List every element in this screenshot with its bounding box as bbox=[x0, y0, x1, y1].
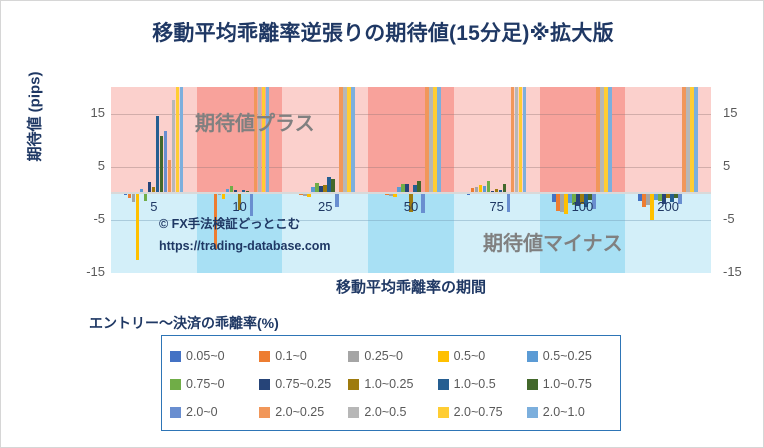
x-tick-label: 5 bbox=[111, 199, 197, 214]
legend-swatch-icon bbox=[259, 379, 270, 390]
legend-item[interactable]: 2.0~0.25 bbox=[259, 405, 348, 419]
legend-item-label: 0.75~0 bbox=[186, 377, 225, 391]
legend-swatch-icon bbox=[438, 351, 449, 362]
legend-item-label: 1.0~0.5 bbox=[454, 377, 496, 391]
x-tick-label: 10 bbox=[197, 199, 283, 214]
legend-item[interactable]: 2.0~0.5 bbox=[348, 405, 437, 419]
legend-item[interactable]: 0.75~0.25 bbox=[259, 377, 348, 391]
x-tick-label: 25 bbox=[282, 199, 368, 214]
x-tick-label: 50 bbox=[368, 199, 454, 214]
legend-item[interactable]: 0.1~0 bbox=[259, 349, 348, 363]
legend-item[interactable]: 0.05~0 bbox=[170, 349, 259, 363]
legend-swatch-icon bbox=[170, 407, 181, 418]
legend-item-label: 1.0~0.75 bbox=[543, 377, 592, 391]
zero-axis-line bbox=[111, 192, 711, 194]
plot-region: 期待値プラス 期待値マイナス © FX手法検証どっとこむ https://tra… bbox=[111, 87, 711, 273]
legend-item[interactable]: 1.0~0.25 bbox=[348, 377, 437, 391]
legend-item-label: 0.1~0 bbox=[275, 349, 307, 363]
legend-box: 0.05~00.1~00.25~00.5~00.5~0.250.75~00.75… bbox=[161, 335, 621, 431]
legend-item-label: 0.5~0.25 bbox=[543, 349, 592, 363]
legend-swatch-icon bbox=[527, 407, 538, 418]
legend-swatch-icon bbox=[259, 351, 270, 362]
y-tick-label-left: 5 bbox=[1, 158, 105, 173]
legend-item[interactable]: 0.25~0 bbox=[348, 349, 437, 363]
positive-zone-label: 期待値プラス bbox=[195, 107, 315, 136]
legend-swatch-icon bbox=[170, 351, 181, 362]
legend-item[interactable]: 0.75~0 bbox=[170, 377, 259, 391]
legend-swatch-icon bbox=[170, 379, 181, 390]
bar bbox=[180, 87, 184, 193]
watermark-line-2: https://trading-database.com bbox=[159, 235, 331, 257]
legend-swatch-icon bbox=[527, 379, 538, 390]
bar bbox=[266, 87, 270, 193]
legend-swatch-icon bbox=[259, 407, 270, 418]
legend-swatch-icon bbox=[348, 379, 359, 390]
legend-swatch-icon bbox=[527, 351, 538, 362]
negative-zone-label: 期待値マイナス bbox=[483, 227, 623, 256]
legend-title: エントリー〜決済の乖離率(%) bbox=[89, 313, 279, 333]
legend-item-label: 0.05~0 bbox=[186, 349, 225, 363]
x-tick-label: 100 bbox=[540, 199, 626, 214]
x-axis-title: 移動平均乖離率の期間 bbox=[111, 276, 711, 297]
bar-group bbox=[625, 87, 711, 273]
watermark: © FX手法検証どっとこむ https://trading-database.c… bbox=[159, 213, 331, 257]
bar bbox=[523, 87, 527, 193]
legend-grid: 0.05~00.1~00.25~00.5~00.5~0.250.75~00.75… bbox=[162, 336, 620, 430]
y-tick-label-right: -5 bbox=[723, 211, 735, 226]
legend-item-label: 2.0~0.25 bbox=[275, 405, 324, 419]
x-tick-label: 200 bbox=[625, 199, 711, 214]
legend-item[interactable]: 1.0~0.5 bbox=[438, 377, 527, 391]
y-tick-label-right: -15 bbox=[723, 264, 742, 279]
legend-item[interactable]: 0.5~0.25 bbox=[527, 349, 616, 363]
legend-item-label: 2.0~0 bbox=[186, 405, 218, 419]
bar bbox=[437, 87, 441, 193]
legend-item[interactable]: 1.0~0.75 bbox=[527, 377, 616, 391]
bar bbox=[331, 179, 335, 193]
x-tick-label: 75 bbox=[454, 199, 540, 214]
legend-item-label: 2.0~0.5 bbox=[364, 405, 406, 419]
legend-item-label: 0.75~0.25 bbox=[275, 377, 331, 391]
y-tick-label-left: -5 bbox=[1, 211, 105, 226]
watermark-line-1: © FX手法検証どっとこむ bbox=[159, 213, 331, 235]
legend-item[interactable]: 2.0~1.0 bbox=[527, 405, 616, 419]
legend-item[interactable]: 2.0~0 bbox=[170, 405, 259, 419]
legend-item[interactable]: 0.5~0 bbox=[438, 349, 527, 363]
legend-item-label: 2.0~0.75 bbox=[454, 405, 503, 419]
y-tick-label-right: 15 bbox=[723, 105, 737, 120]
bar bbox=[608, 87, 612, 193]
legend-item-label: 1.0~0.25 bbox=[364, 377, 413, 391]
bar bbox=[351, 87, 355, 193]
bar-group bbox=[368, 87, 454, 273]
bar bbox=[694, 87, 698, 193]
legend-swatch-icon bbox=[348, 351, 359, 362]
legend-swatch-icon bbox=[438, 407, 449, 418]
legend-item[interactable]: 2.0~0.75 bbox=[438, 405, 527, 419]
y-tick-label-right: 5 bbox=[723, 158, 730, 173]
legend-swatch-icon bbox=[438, 379, 449, 390]
y-tick-label-left: -15 bbox=[1, 264, 105, 279]
chart-title: 移動平均乖離率逆張りの期待値(15分足)※拡大版 bbox=[1, 17, 764, 47]
chart-frame: 移動平均乖離率逆張りの期待値(15分足)※拡大版 期待値 (pips) 移動平均… bbox=[0, 0, 764, 448]
y-tick-label-left: 15 bbox=[1, 105, 105, 120]
legend-item-label: 0.25~0 bbox=[364, 349, 403, 363]
legend-item-label: 2.0~1.0 bbox=[543, 405, 585, 419]
legend-swatch-icon bbox=[348, 407, 359, 418]
legend-item-label: 0.5~0 bbox=[454, 349, 486, 363]
